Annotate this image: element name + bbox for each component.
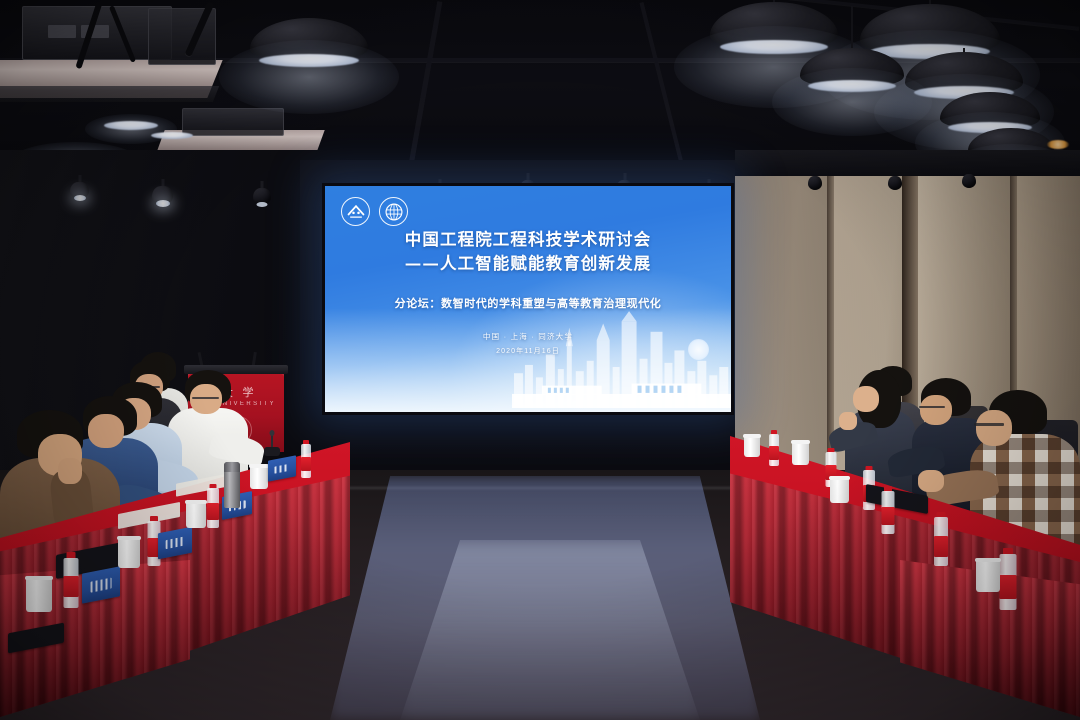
water-cup[interactable] — [792, 442, 809, 465]
spotlight-lens — [156, 200, 170, 207]
ceiling-truss — [639, 2, 684, 168]
duct-vent — [48, 25, 76, 38]
wall-speaker — [962, 174, 976, 188]
water-cup[interactable] — [976, 560, 1000, 592]
water-cup[interactable] — [118, 538, 140, 568]
bottle-label — [64, 576, 79, 597]
mic-head — [270, 430, 275, 436]
lamp-glow — [104, 121, 158, 130]
tongji-university-logo — [379, 197, 408, 226]
mic-base — [264, 447, 280, 456]
speaker-body — [808, 176, 822, 190]
lamp-glow — [259, 54, 359, 67]
water-bottle[interactable] — [880, 486, 895, 534]
speaker-body — [962, 174, 976, 188]
recessed-downlight — [148, 130, 196, 144]
bottle-label — [301, 457, 311, 471]
lamp-glow — [151, 132, 193, 139]
thermos-cap — [224, 462, 240, 472]
eyeglasses-icon — [974, 423, 1004, 426]
water-bottle[interactable] — [300, 440, 312, 478]
cup-lid — [743, 434, 761, 438]
track-spotlight — [253, 188, 271, 205]
cup-lid — [975, 558, 1001, 562]
spotlight-lens — [257, 202, 268, 207]
person-face — [853, 386, 879, 412]
water-cup[interactable] — [830, 478, 849, 503]
cup-lid — [25, 576, 53, 580]
screen-logos — [341, 197, 408, 226]
bottle-label — [769, 446, 779, 460]
water-bottle[interactable] — [768, 430, 780, 466]
water-cup[interactable] — [26, 578, 52, 612]
person-hand — [839, 412, 857, 430]
cup-lid — [829, 476, 850, 480]
water-bottle[interactable] — [998, 548, 1018, 610]
cup-lid — [117, 536, 141, 540]
track-spotlight — [152, 186, 173, 205]
water-cup[interactable] — [250, 466, 268, 489]
water-bottle[interactable] — [206, 484, 220, 528]
wall-speaker — [808, 176, 822, 190]
screen-subtitle: 分论坛：数智时代的学科重塑与高等教育治理现代化 — [325, 295, 731, 311]
lamp-glow — [1047, 140, 1069, 149]
lamp-glow — [808, 80, 896, 92]
pendant-lamp — [800, 48, 904, 106]
water-bottle[interactable] — [932, 512, 949, 566]
cup-lid — [791, 440, 810, 444]
lamp-cord — [851, 6, 853, 48]
bottle-label — [1000, 575, 1017, 599]
placard-text — [166, 537, 185, 550]
hvac-duct — [182, 108, 284, 136]
thermos-flask[interactable] — [224, 462, 240, 508]
placard-text — [274, 463, 289, 474]
pendant-lamp — [250, 18, 368, 80]
bottle-label — [934, 536, 948, 557]
water-bottle[interactable] — [62, 552, 80, 608]
placard-text — [91, 578, 112, 593]
screen-text-block: 中国工程院工程科技学术研讨会 ——人工智能赋能教育创新发展 分论坛：数智时代的学… — [325, 228, 731, 356]
screen-date: 2020年11月16日 — [325, 346, 731, 356]
bottle-label — [207, 503, 219, 520]
conference-room-scene: 中国工程院工程科技学术研讨会 ——人工智能赋能教育创新发展 分论坛：数智时代的学… — [0, 0, 1080, 720]
person-face — [920, 395, 952, 425]
speaker-body — [888, 176, 902, 190]
wall-speaker — [888, 176, 902, 190]
water-cup[interactable] — [744, 436, 760, 457]
led-presentation-screen[interactable]: 中国工程院工程科技学术研讨会 ——人工智能赋能教育创新发展 分论坛：数智时代的学… — [322, 183, 734, 415]
spotlight-lens — [74, 195, 86, 201]
cup-lid — [185, 500, 207, 504]
screen-location: 中国 · 上海 · 同济大学 — [325, 331, 731, 342]
right-wall-header — [735, 150, 1080, 176]
chinese-academy-of-engineering-logo — [341, 197, 370, 226]
bottle-label — [881, 507, 894, 525]
ceiling-air-diffuser-shadow — [0, 86, 219, 102]
screen-title-line1: 中国工程院工程科技学术研讨会 — [325, 228, 731, 252]
screen-surface: 中国工程院工程科技学术研讨会 ——人工智能赋能教育创新发展 分论坛：数智时代的学… — [325, 186, 731, 412]
track-spotlight — [70, 182, 89, 199]
table-microphone[interactable] — [264, 430, 280, 456]
screen-title-line2: ——人工智能赋能教育创新发展 — [325, 252, 731, 276]
wall-panel — [735, 150, 827, 480]
cup-lid — [249, 464, 269, 468]
water-cup[interactable] — [186, 502, 206, 528]
